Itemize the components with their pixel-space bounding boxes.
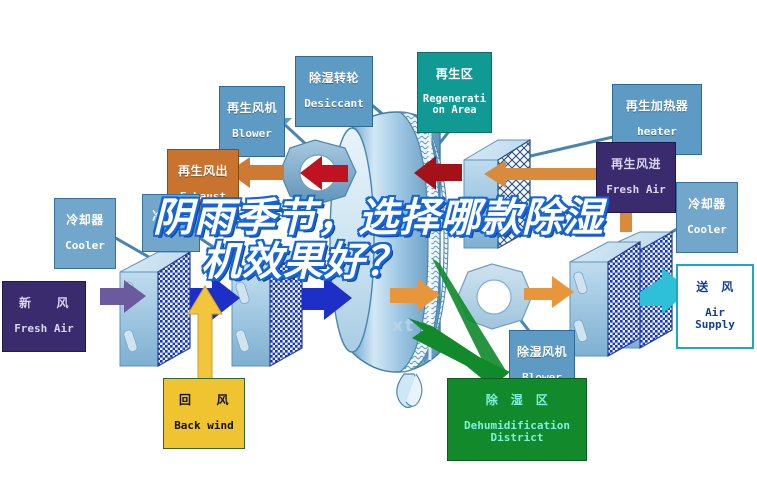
label-dehumidification-district: 除 湿 区 Dehumidification District (447, 378, 587, 461)
label-cooler-right-en: Cooler (681, 224, 733, 236)
label-cooler-left-2: 冷却器 (142, 194, 200, 252)
label-cooler-right-cn: 冷却器 (681, 198, 733, 211)
label-regen-heater-en: heater (617, 126, 697, 138)
label-cooler-right: 冷却器 Cooler (676, 182, 738, 253)
label-regeneration-area: 再生区 Regenerati on Area (417, 52, 492, 133)
label-fresh-air: 新 风 Fresh Air (2, 281, 86, 352)
label-air-supply-cn: 送 风 (682, 281, 748, 294)
label-back-wind: 回 风 Back wind (163, 378, 245, 449)
label-desiccant-cn: 除湿转轮 (300, 72, 368, 85)
cooler-block-1 (120, 252, 190, 366)
watermark-text: xt (392, 316, 415, 336)
label-regen-fresh-air: 再生风进 Fresh Air (596, 142, 676, 213)
label-cooler-left-1-en: Cooler (59, 240, 111, 252)
arrow-dehum-2 (524, 276, 574, 308)
label-regen-fresh-air-cn: 再生风进 (601, 158, 671, 171)
label-dehumidification-district-en: Dehumidification District (452, 420, 582, 444)
label-regen-fresh-air-en: Fresh Air (601, 184, 671, 196)
label-cooler-left-1: 冷却器 Cooler (54, 198, 116, 269)
label-air-supply: 送 风 Air Supply (676, 264, 754, 349)
label-air-supply-en: Air Supply (682, 307, 748, 331)
label-regen-blower: 再生风机 Blower (219, 86, 285, 157)
label-regen-blower-en: Blower (224, 128, 280, 140)
label-desiccant-en: Desiccant (300, 98, 368, 110)
label-dehumidification-district-cn: 除 湿 区 (452, 394, 582, 407)
label-back-wind-cn: 回 风 (168, 394, 240, 407)
cooler-block-2 (232, 252, 302, 366)
label-fresh-air-en: Fresh Air (7, 323, 81, 335)
label-cooler-left-2-cn: 冷却器 (147, 210, 195, 223)
label-exhaust-cn: 再生风出 (172, 165, 234, 178)
label-desiccant: 除湿转轮 Desiccant (295, 56, 373, 127)
dehumidifier-diagram: xt 除湿转轮 Desiccant 再生风机 Blower 再生区 Regene… (0, 0, 757, 488)
label-dehum-blower-cn: 除湿风机 (514, 346, 570, 359)
supply-filter-block (570, 242, 640, 356)
label-regen-heater-cn: 再生加热器 (617, 100, 697, 113)
label-regen-blower-cn: 再生风机 (224, 102, 280, 115)
label-regeneration-area-en: Regenerati on Area (422, 94, 487, 117)
label-fresh-air-cn: 新 风 (7, 297, 81, 310)
label-back-wind-en: Back wind (168, 420, 240, 432)
label-cooler-left-1-cn: 冷却器 (59, 214, 111, 227)
label-regeneration-area-cn: 再生区 (422, 68, 487, 81)
regen-heater-block (464, 140, 530, 248)
